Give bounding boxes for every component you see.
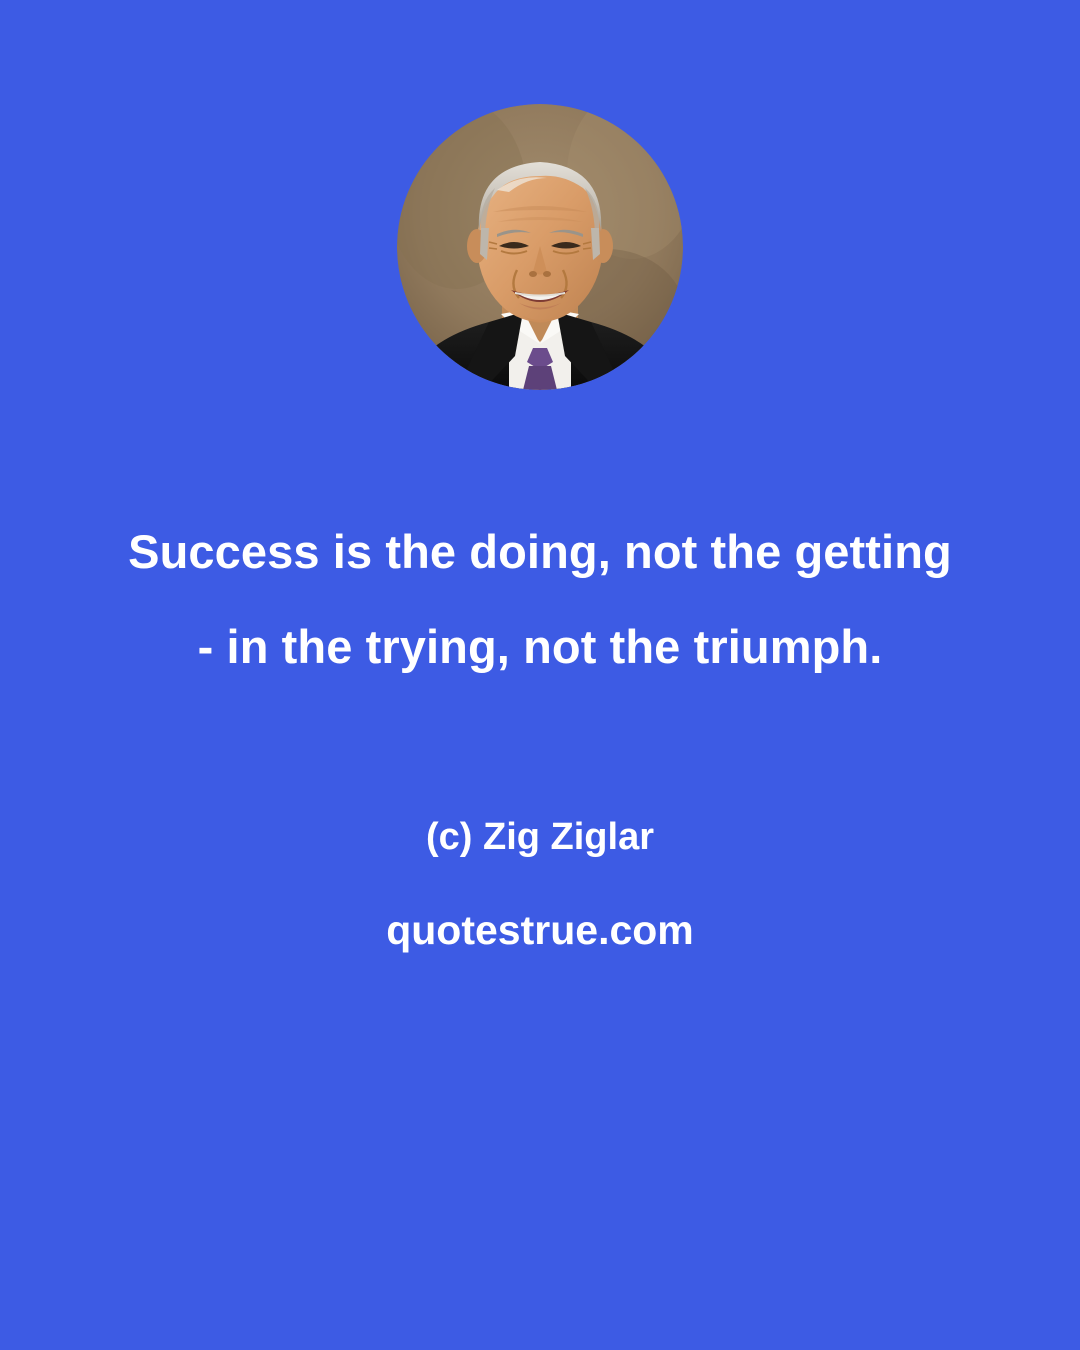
avatar-container bbox=[397, 104, 683, 390]
quote-text: Success is the doing, not the getting - … bbox=[0, 504, 1080, 694]
quote-line-1: Success is the doing, not the getting bbox=[60, 504, 1020, 599]
quote-line-2: - in the trying, not the triumph. bbox=[60, 599, 1020, 694]
author-attribution: (c) Zig Ziglar bbox=[0, 812, 1080, 862]
source-website: quotestrue.com bbox=[0, 902, 1080, 958]
avatar bbox=[397, 104, 683, 390]
quote-card: Success is the doing, not the getting - … bbox=[0, 0, 1080, 1350]
portrait-illustration bbox=[397, 104, 683, 390]
